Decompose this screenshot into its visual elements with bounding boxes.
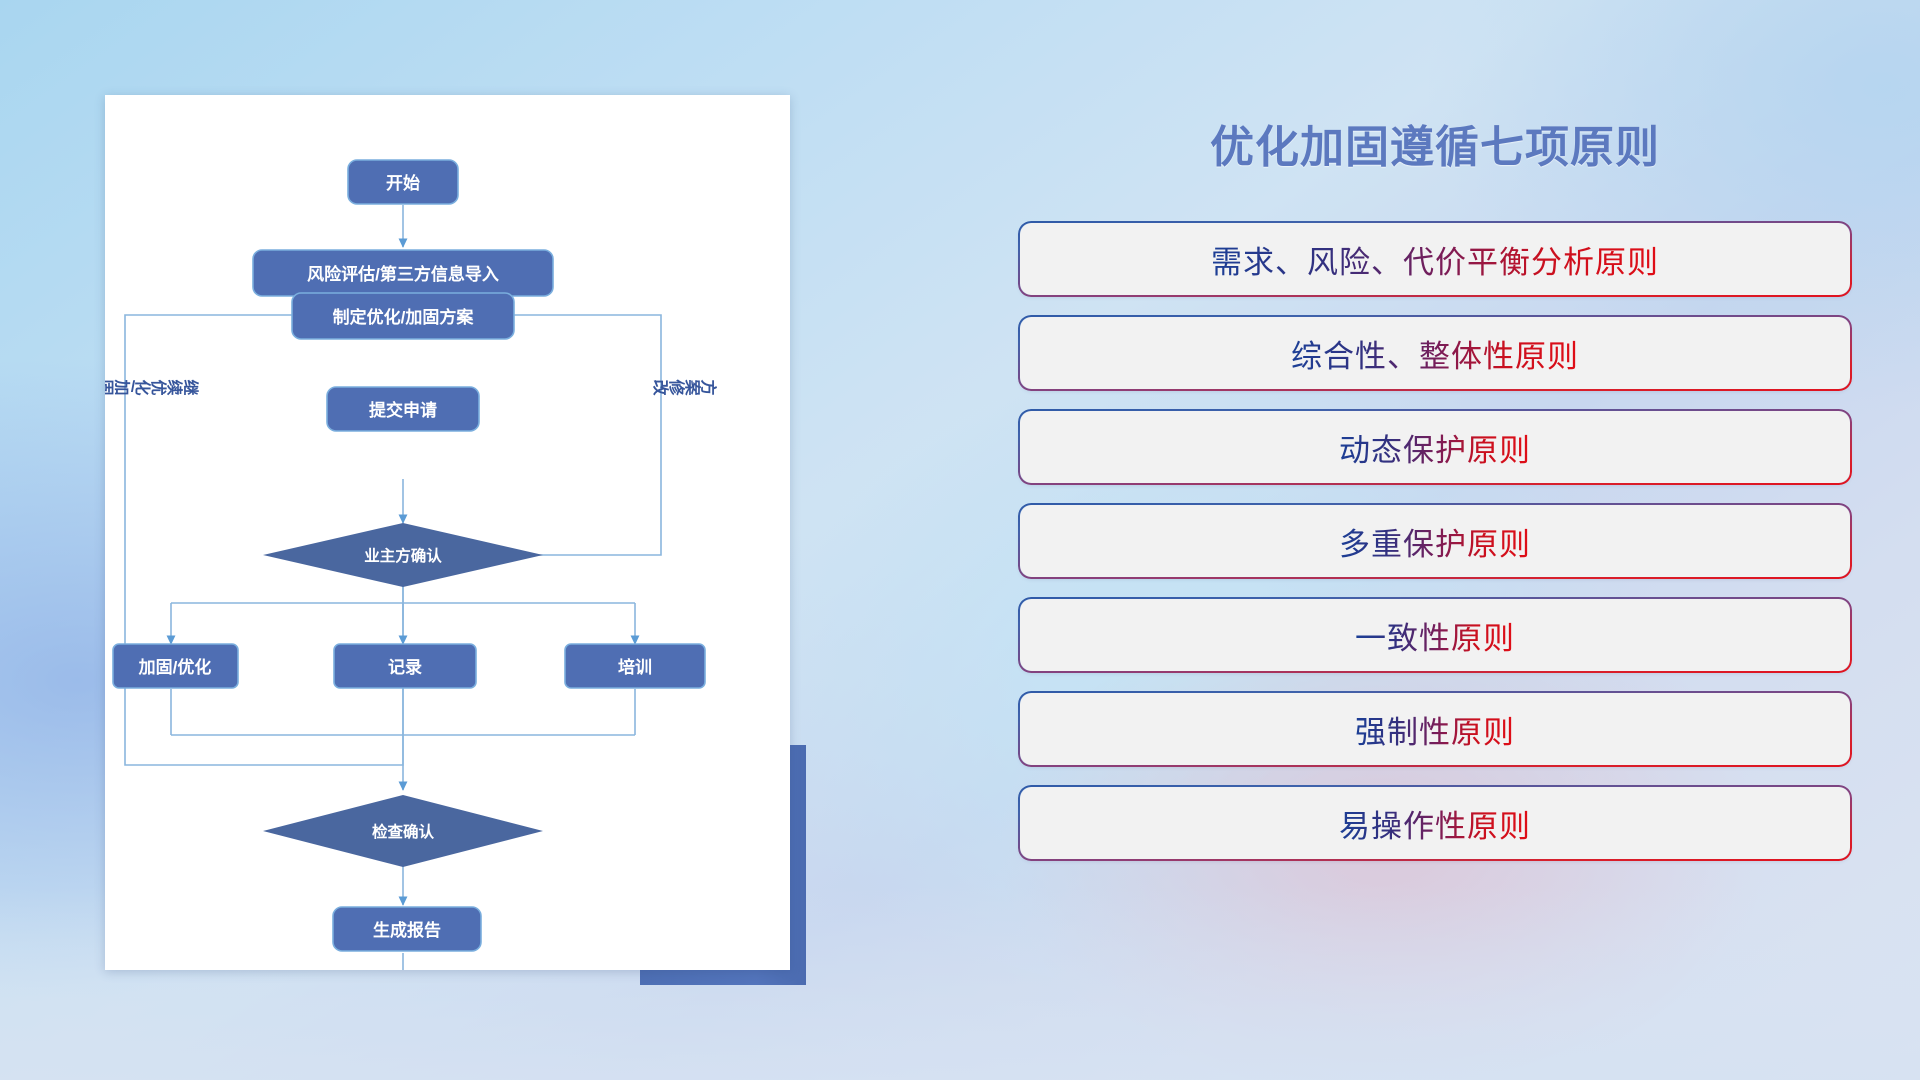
flow-node-start-label: 开始 (386, 173, 420, 193)
flow-node-training: 培训 (565, 644, 705, 688)
flow-node-check-confirm-label: 检查确认 (372, 822, 435, 841)
flow-node-owner-confirm: 业主方确认 (263, 523, 543, 587)
principle-item[interactable]: 综合性、整体性原则 (1020, 317, 1850, 389)
principle-item-label: 动态保护原则 (1339, 425, 1531, 470)
principle-item-label: 多重保护原则 (1339, 519, 1531, 564)
flow-node-record: 记录 (334, 644, 476, 688)
flow-edge-label-continue-optimize: 继续优化/加固 (105, 377, 200, 397)
flow-edge-label-plan-revise: 方案修改 (652, 377, 718, 397)
flow-node-risk-assessment: 风险评估/第三方信息导入 (253, 250, 553, 296)
page-title: 优化加固遵循七项原则 (1020, 111, 1850, 175)
flow-node-make-plan: 制定优化/加固方案 (292, 293, 514, 339)
principle-item-label: 强制性原则 (1355, 707, 1515, 752)
principle-item-label: 易操作性原则 (1339, 801, 1531, 846)
principle-item[interactable]: 易操作性原则 (1020, 787, 1850, 859)
principle-list: 需求、风险、代价平衡分析原则 综合性、整体性原则 动态保护原则 多重保护原则 一… (1020, 223, 1850, 859)
flow-node-start: 开始 (348, 160, 458, 204)
flow-node-record-label: 记录 (388, 658, 422, 677)
principle-item[interactable]: 一致性原则 (1020, 599, 1850, 671)
flow-node-submit-label: 提交申请 (369, 400, 437, 420)
flowchart-card: 开始 风险评估/第三方信息导入 制定优化/加固方案 提交申请 业主方确认 加固/… (105, 95, 790, 970)
flow-node-reinforce-label: 加固/优化 (138, 657, 212, 677)
principle-item-label: 综合性、整体性原则 (1291, 331, 1579, 376)
flow-node-training-label: 培训 (618, 657, 652, 677)
principle-item-label: 需求、风险、代价平衡分析原则 (1211, 237, 1659, 282)
principle-item[interactable]: 强制性原则 (1020, 693, 1850, 765)
flow-node-report: 生成报告 (333, 907, 481, 951)
flow-node-risk-assessment-label: 风险评估/第三方信息导入 (307, 264, 499, 284)
flow-node-check-confirm: 检查确认 (263, 795, 543, 867)
principle-item[interactable]: 动态保护原则 (1020, 411, 1850, 483)
principle-item[interactable]: 多重保护原则 (1020, 505, 1850, 577)
flowchart-diagram: 开始 风险评估/第三方信息导入 制定优化/加固方案 提交申请 业主方确认 加固/… (105, 95, 790, 970)
flow-node-submit: 提交申请 (327, 387, 479, 431)
principles-panel: 优化加固遵循七项原则 需求、风险、代价平衡分析原则 综合性、整体性原则 动态保护… (1020, 95, 1850, 995)
principle-item[interactable]: 需求、风险、代价平衡分析原则 (1020, 223, 1850, 295)
flow-node-owner-confirm-label: 业主方确认 (364, 546, 442, 565)
flow-node-make-plan-label: 制定优化/加固方案 (333, 307, 475, 327)
flow-node-report-label: 生成报告 (373, 920, 441, 940)
principle-item-label: 一致性原则 (1355, 613, 1515, 658)
flow-node-reinforce: 加固/优化 (113, 644, 238, 688)
